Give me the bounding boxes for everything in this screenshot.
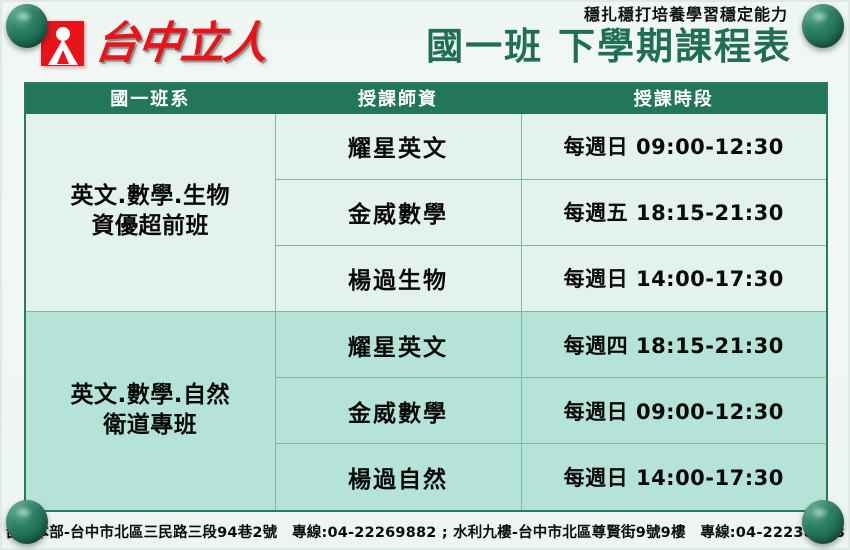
time-cell: 每週日 09:00-12:30 <box>521 113 827 179</box>
brand-name: 台中立人 <box>92 22 269 66</box>
teacher-cell: 耀星英文 <box>275 113 521 179</box>
column-header-teacher: 授課師資 <box>275 83 521 113</box>
green-sphere-ornament-top-left <box>6 4 48 48</box>
brand-logo: 台中立人 <box>38 18 267 70</box>
teacher-cell: 耀星英文 <box>275 312 521 378</box>
class-name-line1: 英文.數學.生物 <box>71 183 230 209</box>
teacher-cell: 金威數學 <box>275 179 521 245</box>
course-group-weidao: 英文.數學.自然 衛道專班 耀星英文 每週四 18:15-21:30 金威數學 … <box>25 312 827 511</box>
teacher-cell: 楊過生物 <box>275 245 521 311</box>
class-name-cell: 英文.數學.自然 衛道專班 <box>25 312 275 511</box>
page-title: 國一班 下學期課程表 <box>426 26 792 69</box>
green-sphere-ornament-bottom-right <box>802 500 844 544</box>
teacher-cell: 金威數學 <box>275 378 521 444</box>
table-header-row: 國一班系 授課師資 授課時段 <box>25 83 827 113</box>
time-cell: 每週五 18:15-21:30 <box>521 179 827 245</box>
column-header-class: 國一班系 <box>25 83 275 113</box>
time-cell: 每週日 09:00-12:30 <box>521 378 827 444</box>
table-header: 國一班系 授課師資 授課時段 <box>25 83 827 113</box>
course-group-advanced: 英文.數學.生物 資優超前班 耀星英文 每週日 09:00-12:30 金威數學… <box>25 113 827 312</box>
poster-header: 台中立人 穩扎穩打培養學習穩定能力 國一班 下學期課程表 <box>0 0 850 82</box>
column-header-time: 授課時段 <box>521 83 827 113</box>
class-name-line1: 英文.數學.自然 <box>71 382 230 408</box>
time-cell: 每週日 14:00-17:30 <box>521 245 827 311</box>
class-name-line2: 衛道專班 <box>103 412 197 438</box>
green-sphere-ornament-top-right <box>802 4 844 48</box>
poster-subtitle: 穩扎穩打培養學習穩定能力 <box>426 6 792 24</box>
class-name-line2: 資優超前班 <box>92 213 210 239</box>
table-row: 英文.數學.生物 資優超前班 耀星英文 每週日 09:00-12:30 <box>25 113 827 179</box>
contact-footer: 台中本部-台中市北區三民路三段94巷2號 專線:04-22269882 ; 水利… <box>0 521 850 542</box>
table-row: 英文.數學.自然 衛道專班 耀星英文 每週四 18:15-21:30 <box>25 312 827 378</box>
time-cell: 每週日 14:00-17:30 <box>521 444 827 511</box>
poster-page: 台中立人 穩扎穩打培養學習穩定能力 國一班 下學期課程表 國一班系 授課師資 授… <box>0 0 850 550</box>
teacher-cell: 楊過自然 <box>275 444 521 511</box>
class-name-cell: 英文.數學.生物 資優超前班 <box>25 113 275 312</box>
time-cell: 每週四 18:15-21:30 <box>521 312 827 378</box>
course-schedule-table: 國一班系 授課師資 授課時段 英文.數學.生物 資優超前班 耀星英文 每週日 0… <box>24 82 828 512</box>
title-block: 穩扎穩打培養學習穩定能力 國一班 下學期課程表 <box>426 6 792 68</box>
green-sphere-ornament-bottom-left <box>6 500 48 544</box>
